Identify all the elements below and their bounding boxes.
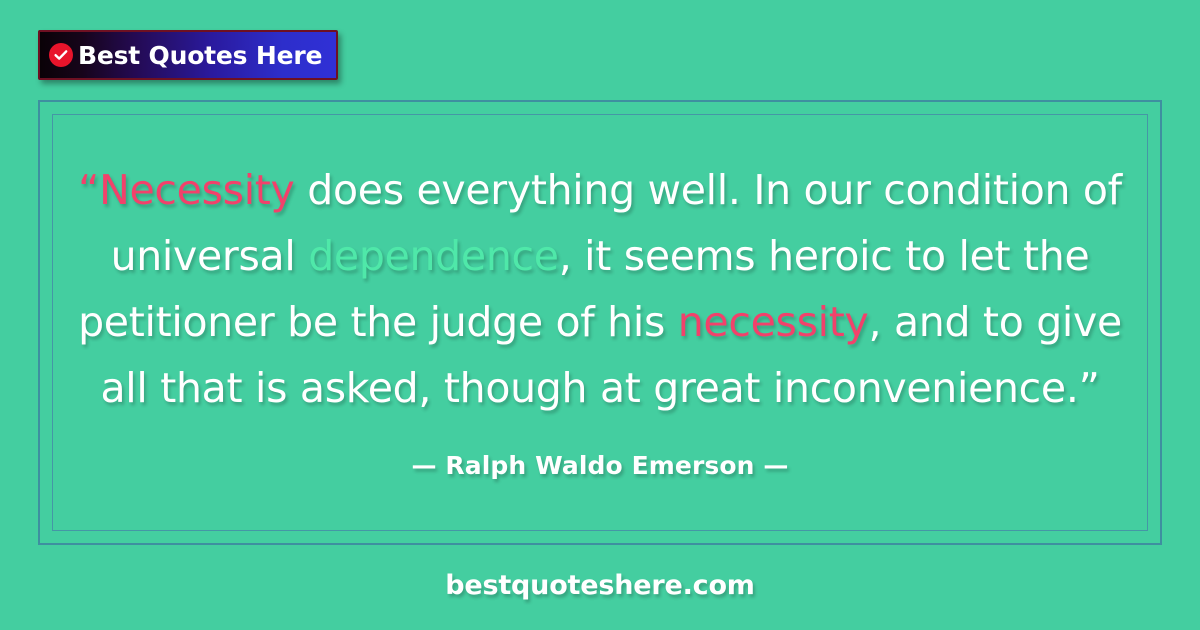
quote-highlight-necessity-2: necessity (678, 298, 869, 346)
quote-line-3: petitioner be the judge of his necessity… (78, 289, 1123, 355)
quote-line-2: universal dependence, it seems heroic to… (78, 223, 1123, 289)
brand-label: Best Quotes Here (78, 43, 322, 68)
site-url-footer[interactable]: bestquoteshere.com (0, 570, 1200, 601)
quote-text-4: all that is asked, though at great incon… (100, 364, 1099, 412)
quote-highlight-necessity-1: “Necessity (78, 166, 294, 214)
quote-card-inner-frame: “Necessity does everything well. In our … (52, 114, 1148, 531)
quote-highlight-dependence: dependence (308, 232, 559, 280)
quote-text-2a: universal (111, 232, 309, 280)
quote-card-outer-frame: “Necessity does everything well. In our … (38, 100, 1162, 545)
quote-poster: Best Quotes Here “Necessity does everyth… (0, 0, 1200, 630)
quote-line-1: “Necessity does everything well. In our … (78, 157, 1123, 223)
brand-badge[interactable]: Best Quotes Here (38, 30, 338, 80)
quote-text-block: “Necessity does everything well. In our … (78, 157, 1123, 480)
quote-text-3a: petitioner be the judge of his (78, 298, 678, 346)
quote-text-2b: , it seems heroic to let the (559, 232, 1090, 280)
quote-attribution: — Ralph Waldo Emerson — (78, 451, 1123, 480)
quote-text-3b: , and to give (868, 298, 1121, 346)
quote-text-1: does everything well. In our condition o… (295, 166, 1122, 214)
verified-check-icon (49, 43, 73, 67)
quote-line-4: all that is asked, though at great incon… (78, 355, 1123, 421)
